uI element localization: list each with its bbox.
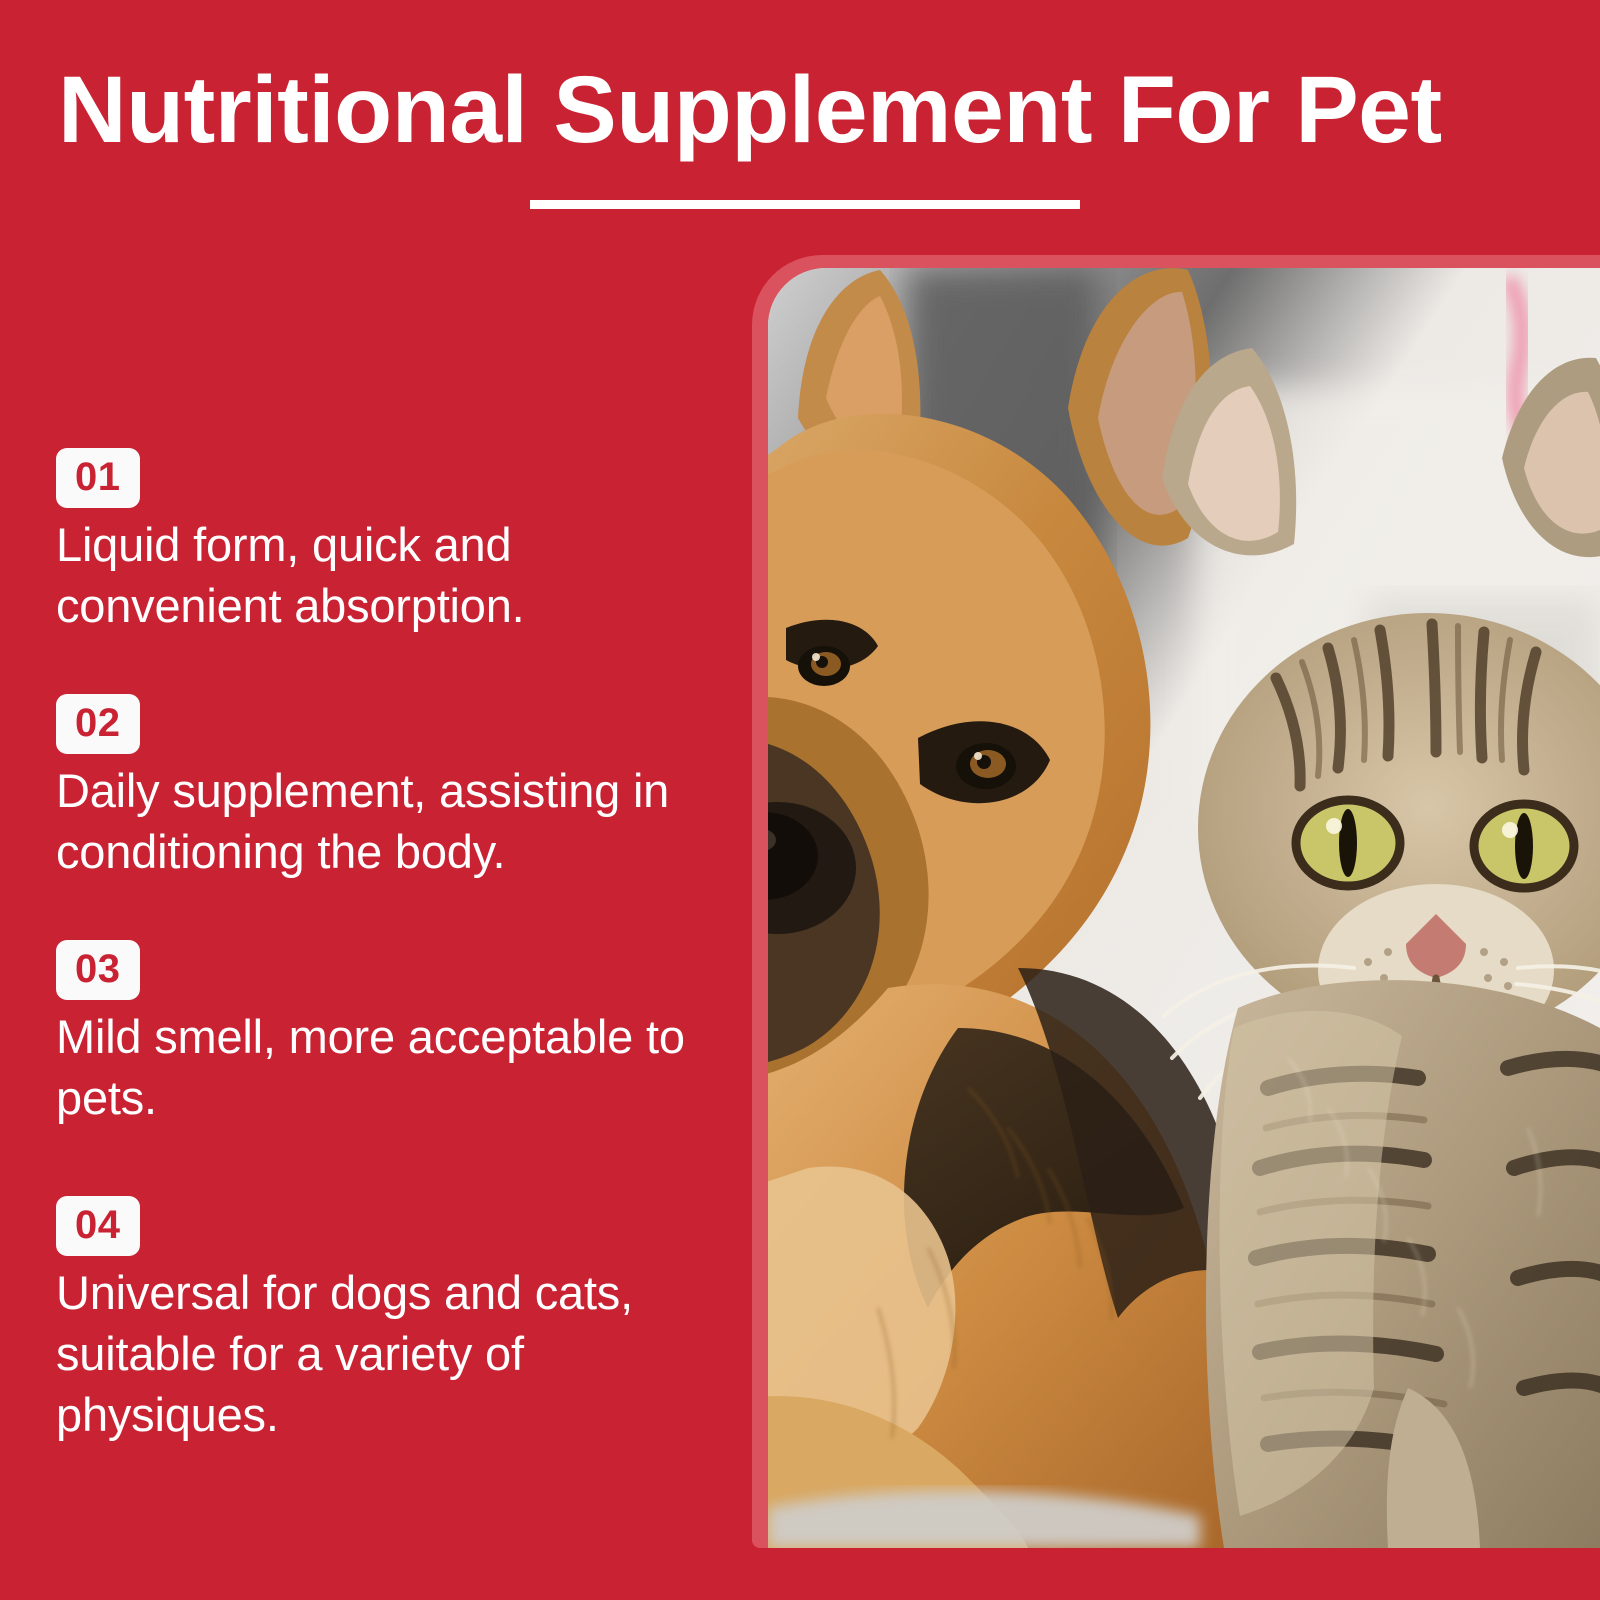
feature-item-01: 01 Liquid form, quick and convenient abs… <box>56 448 736 636</box>
feature-item-04: 04 Universal for dogs and cats, suitable… <box>56 1196 736 1445</box>
feature-description: Liquid form, quick and convenient absorp… <box>56 514 736 636</box>
feature-number-badge: 03 <box>56 940 140 1000</box>
feature-item-03: 03 Mild smell, more acceptable to pets. <box>56 940 736 1128</box>
feature-description: Daily supplement, assisting in condition… <box>56 760 756 882</box>
feature-item-02: 02 Daily supplement, assisting in condit… <box>56 694 736 882</box>
feature-number-badge: 04 <box>56 1196 140 1256</box>
feature-description: Mild smell, more acceptable to pets. <box>56 1006 736 1128</box>
feature-number-badge: 01 <box>56 448 140 508</box>
pet-photo <box>768 268 1600 1548</box>
feature-description: Universal for dogs and cats, suitable fo… <box>56 1262 756 1445</box>
feature-number-badge: 02 <box>56 694 140 754</box>
title-underline-rule <box>530 200 1080 209</box>
photo-frame <box>752 255 1600 1548</box>
pet-photo-illustration <box>768 268 1600 1548</box>
page-title: Nutritional Supplement For Pet <box>58 58 1558 163</box>
